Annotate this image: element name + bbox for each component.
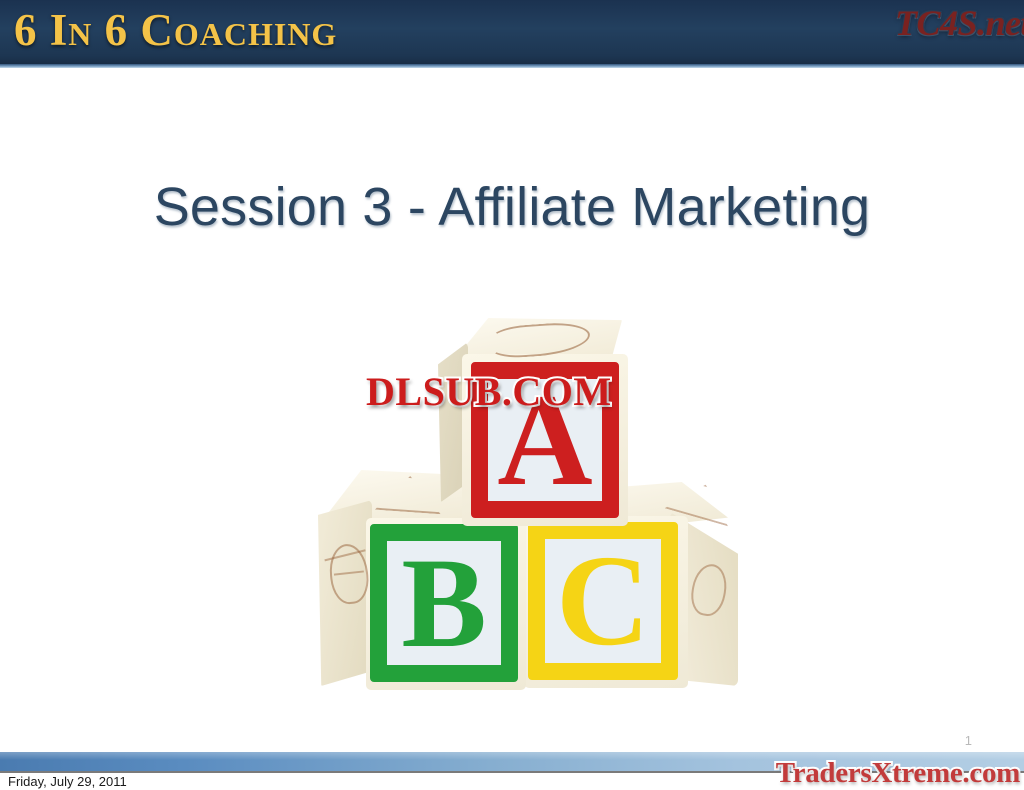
block-c-letter: C [528, 522, 678, 680]
header-brand-logo: TC4S.net [895, 2, 1024, 44]
slide-page-number: 1 [965, 733, 972, 748]
slide-title: Session 3 - Affiliate Marketing [0, 176, 1024, 238]
slide-date: Friday, July 29, 2011 [8, 774, 127, 789]
dlsub-watermark: DLSUB.COM [366, 368, 612, 415]
block-b-letter: B [370, 524, 518, 682]
course-title: 6 In 6 Coaching [14, 7, 337, 54]
footer-brand-logo: TradersXtreme.com [776, 757, 1020, 790]
slide-header-bar: 6 In 6 Coaching TC4S.net [0, 0, 1024, 68]
block-a: A [438, 318, 628, 533]
slide-canvas: 6 In 6 Coaching TC4S.net Session 3 - Aff… [0, 0, 1024, 788]
